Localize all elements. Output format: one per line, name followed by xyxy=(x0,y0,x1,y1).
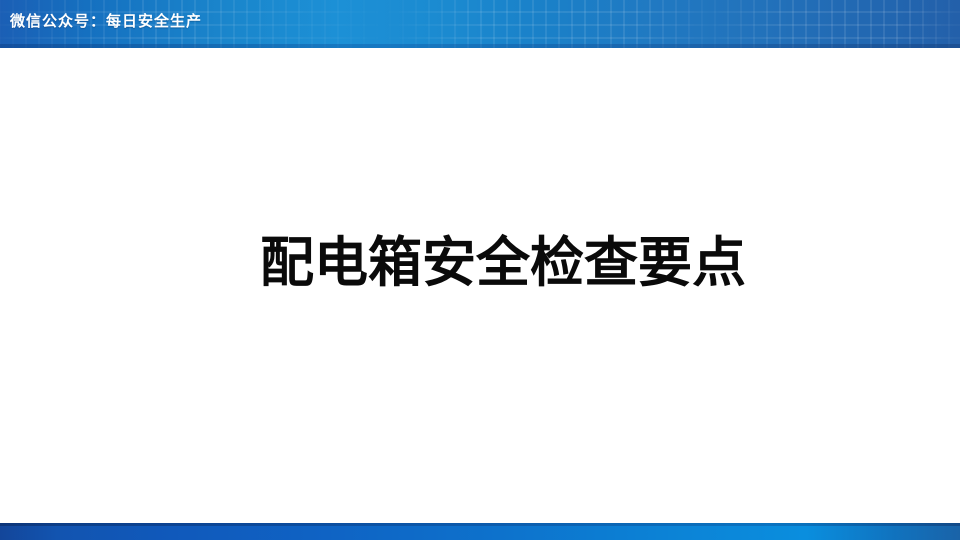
bottom-bar-top-edge xyxy=(0,523,960,526)
wechat-account-label: 微信公众号：每日安全生产 xyxy=(10,10,202,32)
slide-title: 配电箱安全检查要点 xyxy=(260,228,760,298)
top-banner: 微信公众号：每日安全生产 xyxy=(0,0,960,48)
title-area: 配电箱安全检查要点 xyxy=(0,48,960,523)
bottom-bar xyxy=(0,523,960,540)
slide-canvas: 微信公众号：每日安全生产 配电箱安全检查要点 xyxy=(0,0,960,540)
